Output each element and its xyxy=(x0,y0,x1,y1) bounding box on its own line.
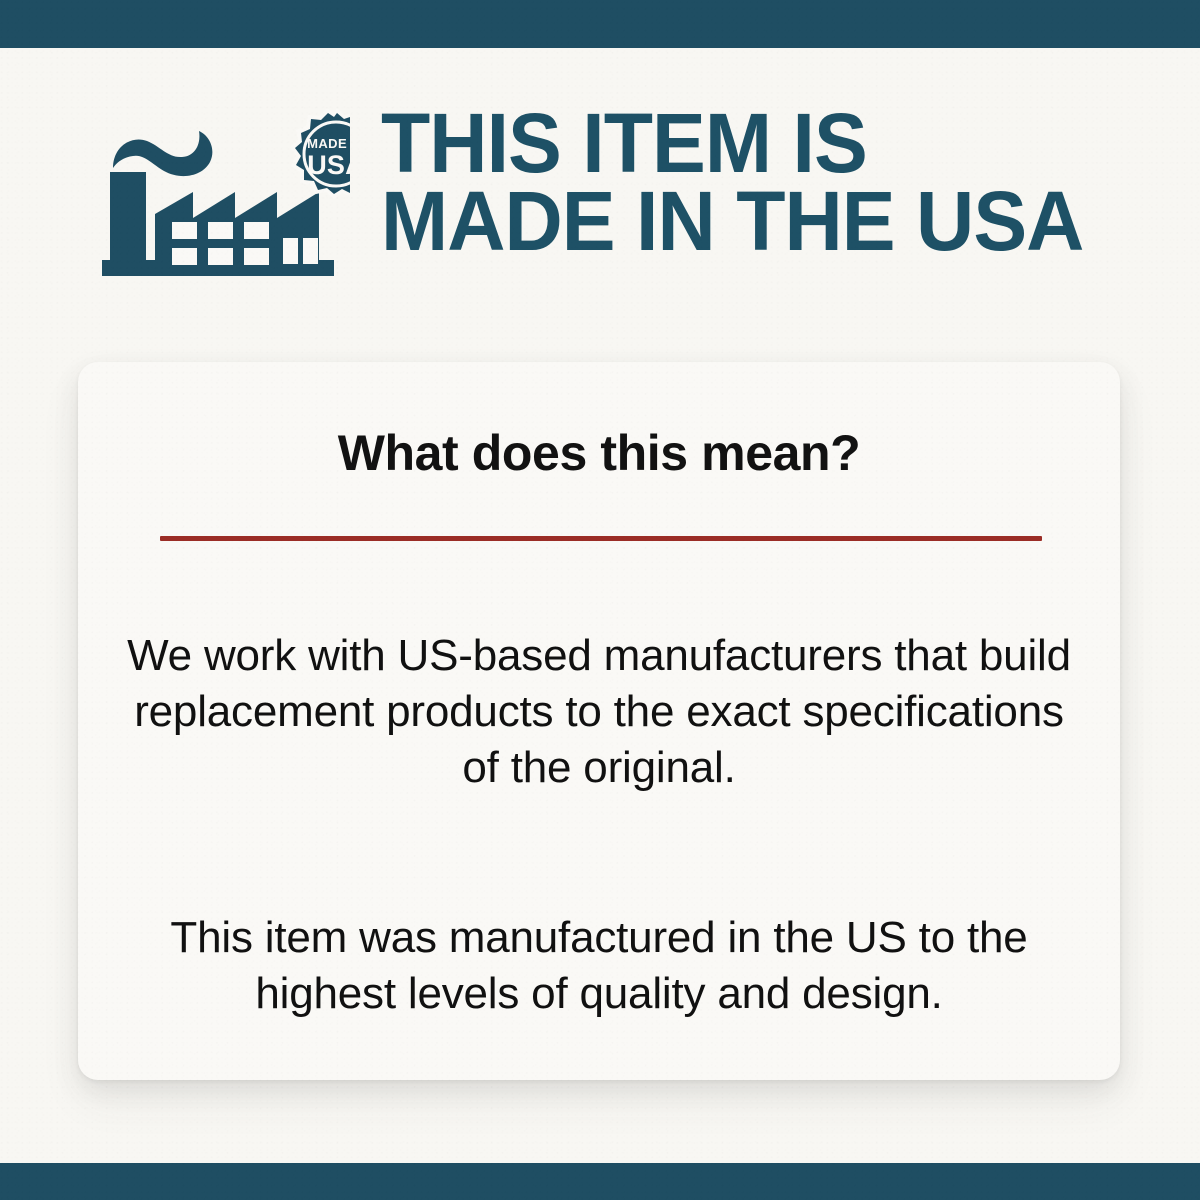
card-body: We work with US-based manufacturers that… xyxy=(118,584,1080,1066)
svg-text:MADE IN: MADE IN xyxy=(307,136,350,151)
explanation-card: What does this mean? We work with US-bas… xyxy=(78,362,1120,1080)
bottom-accent-band xyxy=(0,1163,1200,1200)
headline-line-1: THIS ITEM IS xyxy=(381,104,1139,182)
header: MADE IN USA THIS ITEM IS MADE IN THE USA xyxy=(0,48,1200,298)
body-paragraph-2: This item was manufactured in the US to … xyxy=(118,910,1080,1022)
factory-logo: MADE IN USA xyxy=(100,100,350,280)
smoke-icon xyxy=(113,131,212,176)
chimney-icon xyxy=(110,172,146,264)
top-accent-band xyxy=(0,0,1200,48)
made-in-usa-badge-icon: MADE IN USA xyxy=(290,108,350,199)
page-title: THIS ITEM IS MADE IN THE USA xyxy=(381,104,1139,260)
body-paragraph-1: We work with US-based manufacturers that… xyxy=(118,628,1080,796)
heading-divider xyxy=(160,536,1042,541)
svg-text:USA: USA xyxy=(307,150,350,180)
made-in-usa-info-panel: MADE IN USA THIS ITEM IS MADE IN THE USA… xyxy=(0,0,1200,1200)
card-heading: What does this mean? xyxy=(78,424,1120,482)
headline-line-2: MADE IN THE USA xyxy=(381,182,1139,260)
